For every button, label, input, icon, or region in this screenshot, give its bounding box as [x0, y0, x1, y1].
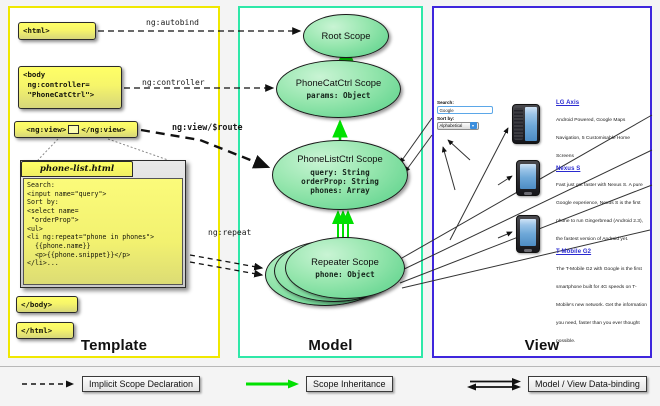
double-arrow-icon: [466, 377, 522, 391]
code-box-html-open: <html>: [18, 22, 96, 40]
phone-list: LG Axis Android Powered, Google Maps Nav…: [556, 100, 648, 351]
legend-label-implicit: Implicit Scope Declaration: [82, 376, 200, 392]
legend: Implicit Scope Declaration Scope Inherit…: [0, 366, 660, 406]
dashed-arrow-icon: [20, 377, 76, 391]
scope-repeater-props: phone: Object: [315, 270, 374, 279]
label-ng-controller: ng:controller: [142, 78, 205, 87]
list-item[interactable]: T-Mobile G2 The T-Mobile G2 with Google …: [556, 249, 648, 347]
phone-link-nexus-s[interactable]: Nexus S: [556, 166, 648, 172]
sort-label: Sort by:: [437, 116, 495, 122]
ngview-open-tag: <ng:view>: [26, 125, 66, 135]
scope-phonecatctrl-props: params: Object: [306, 91, 370, 100]
diagram-canvas: Template Model View: [0, 0, 660, 405]
label-ng-view-route: ng:view/$route: [172, 122, 243, 132]
legend-item-binding: Model / View Data-binding: [466, 376, 647, 392]
list-item[interactable]: LG Axis Android Powered, Google Maps Nav…: [556, 100, 648, 162]
phone-image-lg-axis: [512, 104, 540, 144]
phone-link-tmobile-g2[interactable]: T-Mobile G2: [556, 249, 648, 255]
scope-repeater-name: Repeater Scope: [311, 257, 379, 268]
code-box-ngview: <ng:view></ng:view>: [14, 121, 138, 138]
column-label-template: Template: [10, 337, 218, 354]
scope-root: Root Scope: [303, 14, 389, 58]
scope-phonecatctrl: PhoneCatCtrl Scope params: Object: [276, 60, 401, 118]
legend-item-implicit: Implicit Scope Declaration: [20, 376, 200, 392]
legend-item-inheritance: Scope Inheritance: [244, 376, 393, 392]
code-box-body-open: <body ng:controller= "PhoneCatCtrl">: [18, 66, 122, 109]
search-form: Search: Google Sort by: Alphabetical ▾: [437, 100, 495, 130]
legend-label-binding: Model / View Data-binding: [528, 376, 647, 392]
sort-by-value: Alphabetical: [440, 122, 463, 129]
phone-list-template-title: phone-list.html: [21, 161, 133, 177]
column-label-model: Model: [240, 337, 421, 354]
label-ng-repeat: ng:repeat: [208, 228, 251, 237]
code-box-html-close: </html>: [16, 322, 74, 339]
list-item[interactable]: Nexus S Fast just got faster with Nexus …: [556, 166, 648, 246]
legend-label-inheritance: Scope Inheritance: [306, 376, 393, 392]
phone-snippet-nexus-s: Fast just got faster with Nexus S. A pur…: [556, 183, 643, 242]
phone-snippet-tmobile-g2: The T-Mobile G2 with Google is the first…: [556, 267, 647, 344]
scope-phonecatctrl-name: PhoneCatCtrl Scope: [296, 78, 381, 89]
ngview-slot-icon: [68, 125, 79, 134]
phone-list-template-code: Search: <input name="query"> Sort by: <s…: [23, 178, 183, 285]
phone-snippet-lg-axis: Android Powered, Google Maps Navigation,…: [556, 118, 630, 159]
phone-image-tmobile-g2: [516, 215, 540, 253]
phone-list-template-card: phone-list.html Search: <input name="que…: [20, 160, 186, 288]
chevron-down-icon: ▾: [470, 122, 477, 129]
scope-phonelistctrl: PhoneListCtrl Scope query: String orderP…: [272, 140, 408, 210]
ngview-close-tag: </ng:view>: [81, 125, 126, 135]
label-ng-autobind: ng:autobind: [146, 18, 199, 27]
code-box-body-close: </body>: [16, 296, 78, 313]
scope-phonelistctrl-props: query: String orderProp: String phones: …: [301, 168, 379, 196]
sort-by-select[interactable]: Alphabetical ▾: [437, 122, 479, 130]
phone-link-lg-axis[interactable]: LG Axis: [556, 100, 648, 106]
scope-root-name: Root Scope: [322, 31, 371, 42]
green-arrow-icon: [244, 377, 300, 391]
scope-repeater: Repeater Scope phone: Object: [285, 237, 405, 299]
phone-image-nexus-s: [516, 160, 540, 196]
search-label: Search:: [437, 100, 495, 106]
search-input[interactable]: Google: [437, 106, 493, 114]
scope-phonelistctrl-name: PhoneListCtrl Scope: [297, 154, 382, 165]
